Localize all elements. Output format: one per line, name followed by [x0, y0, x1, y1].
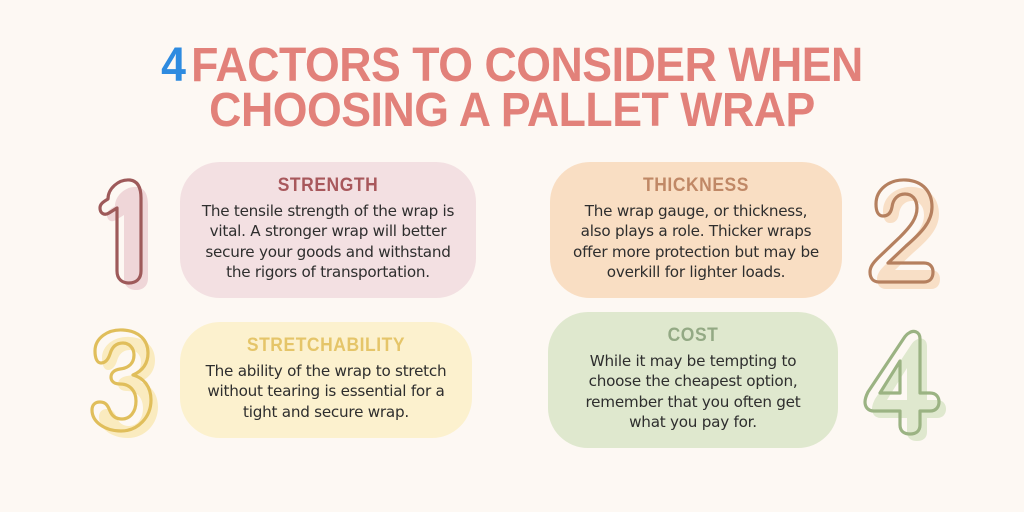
card-cell-3: STRETCHABILITY The ability of the wrap t…	[0, 305, 512, 455]
card-thickness-title: THICKNESS	[580, 175, 812, 197]
numeral-3	[78, 321, 164, 439]
card-stretchability: STRETCHABILITY The ability of the wrap t…	[180, 322, 472, 438]
title-line-2: Choosing a Pallet Wrap	[36, 89, 988, 134]
numeral-1-glyph	[78, 171, 164, 289]
card-strength: STRENGTH The tensile strength of the wra…	[180, 162, 476, 298]
card-cost: COST While it may be tempting to choose …	[548, 312, 838, 448]
card-strength-body: The tensile strength of the wrap is vita…	[200, 201, 456, 282]
card-thickness: THICKNESS The wrap gauge, or thickness, …	[550, 162, 842, 298]
card-stretchability-title: STRETCHABILITY	[210, 335, 442, 357]
card-cost-title: COST	[578, 325, 808, 347]
numeral-1	[78, 171, 164, 289]
numeral-4-outline	[865, 331, 939, 434]
card-stretchability-body: The ability of the wrap to stretch witho…	[200, 361, 452, 422]
card-strength-title: STRENGTH	[210, 175, 446, 197]
cards-row-2: STRETCHABILITY The ability of the wrap t…	[0, 305, 1024, 455]
title-line-1: 4Factors to Consider When	[36, 44, 988, 89]
card-cell-4: COST While it may be tempting to choose …	[512, 305, 1024, 455]
title-number: 4	[161, 39, 185, 92]
numeral-4-glyph	[860, 321, 946, 439]
numeral-3-glyph	[78, 321, 164, 439]
numeral-2-glyph	[860, 171, 946, 289]
numeral-4	[860, 321, 946, 439]
card-cell-2: THICKNESS The wrap gauge, or thickness, …	[512, 155, 1024, 305]
numeral-2	[860, 171, 946, 289]
card-cost-body: While it may be tempting to choose the c…	[568, 351, 818, 432]
card-thickness-body: The wrap gauge, or thickness, also plays…	[570, 201, 822, 282]
cards-row-1: STRENGTH The tensile strength of the wra…	[0, 155, 1024, 305]
page-title: 4Factors to Consider When Choosing a Pal…	[0, 44, 1024, 133]
card-cell-1: STRENGTH The tensile strength of the wra…	[0, 155, 512, 305]
infographic-canvas: 4Factors to Consider When Choosing a Pal…	[0, 0, 1024, 512]
